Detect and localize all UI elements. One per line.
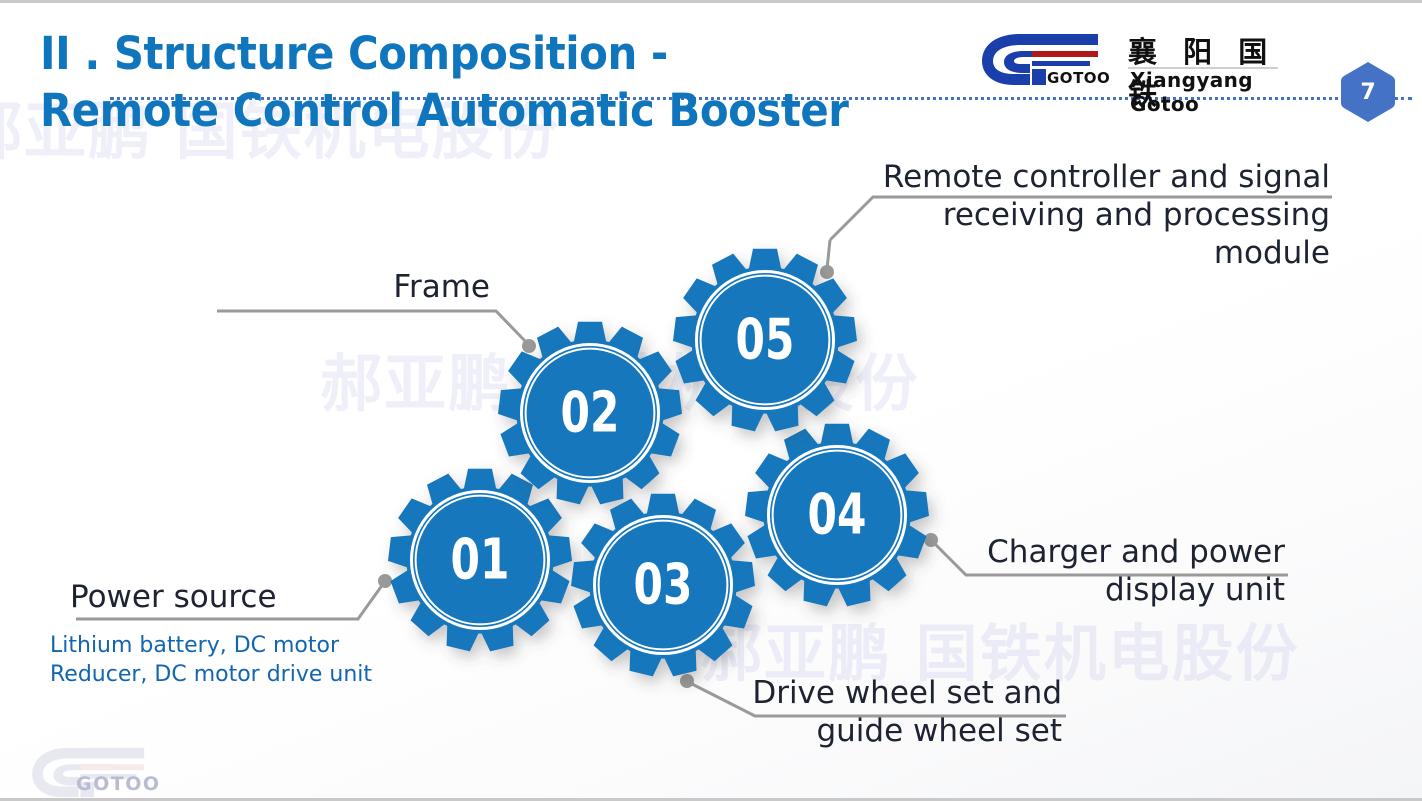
slide-canvas: 郝亚鹏 国铁机电股份 郝亚鹏 国铁机电股份 郝亚鹏 国铁机电股份 II . St… (0, 0, 1422, 801)
gear-01-hub (406, 486, 553, 633)
page-number: 7 (1340, 61, 1396, 123)
page-number-badge: 7 (1340, 61, 1396, 123)
callout-drive-wheel-label: Drive wheel set and guide wheel set (660, 674, 1062, 750)
footer-brand-latin: GOTOO (76, 773, 161, 795)
gear-03[interactable] (571, 494, 755, 677)
page-title: II . Structure Composition - Remote Cont… (40, 25, 858, 139)
gear-02[interactable] (498, 322, 682, 505)
logo-brand-en: Xiangyang Gotoo (1130, 68, 1280, 116)
callout-power-source-label: Power source (70, 578, 390, 616)
callout-power-source-subnote: Lithium battery, DC motor Reducer, DC mo… (50, 631, 470, 689)
gear-01[interactable] (388, 469, 572, 652)
company-logo: GOTOO 襄 阳 国 铁 Xiangyang Gotoo (980, 27, 1280, 93)
callout-charger-label: Charger and power display unit (880, 533, 1285, 609)
gear-02-hub (516, 339, 663, 486)
gear-05-hub (691, 266, 838, 413)
logo-brand-latin: GOTOO (1047, 69, 1110, 87)
gear-05[interactable] (673, 249, 857, 432)
gear-03-hub (589, 511, 736, 658)
callout-frame-label: Frame (200, 268, 490, 306)
callout-remote-controller-label: Remote controller and signal receiving a… (830, 158, 1330, 272)
